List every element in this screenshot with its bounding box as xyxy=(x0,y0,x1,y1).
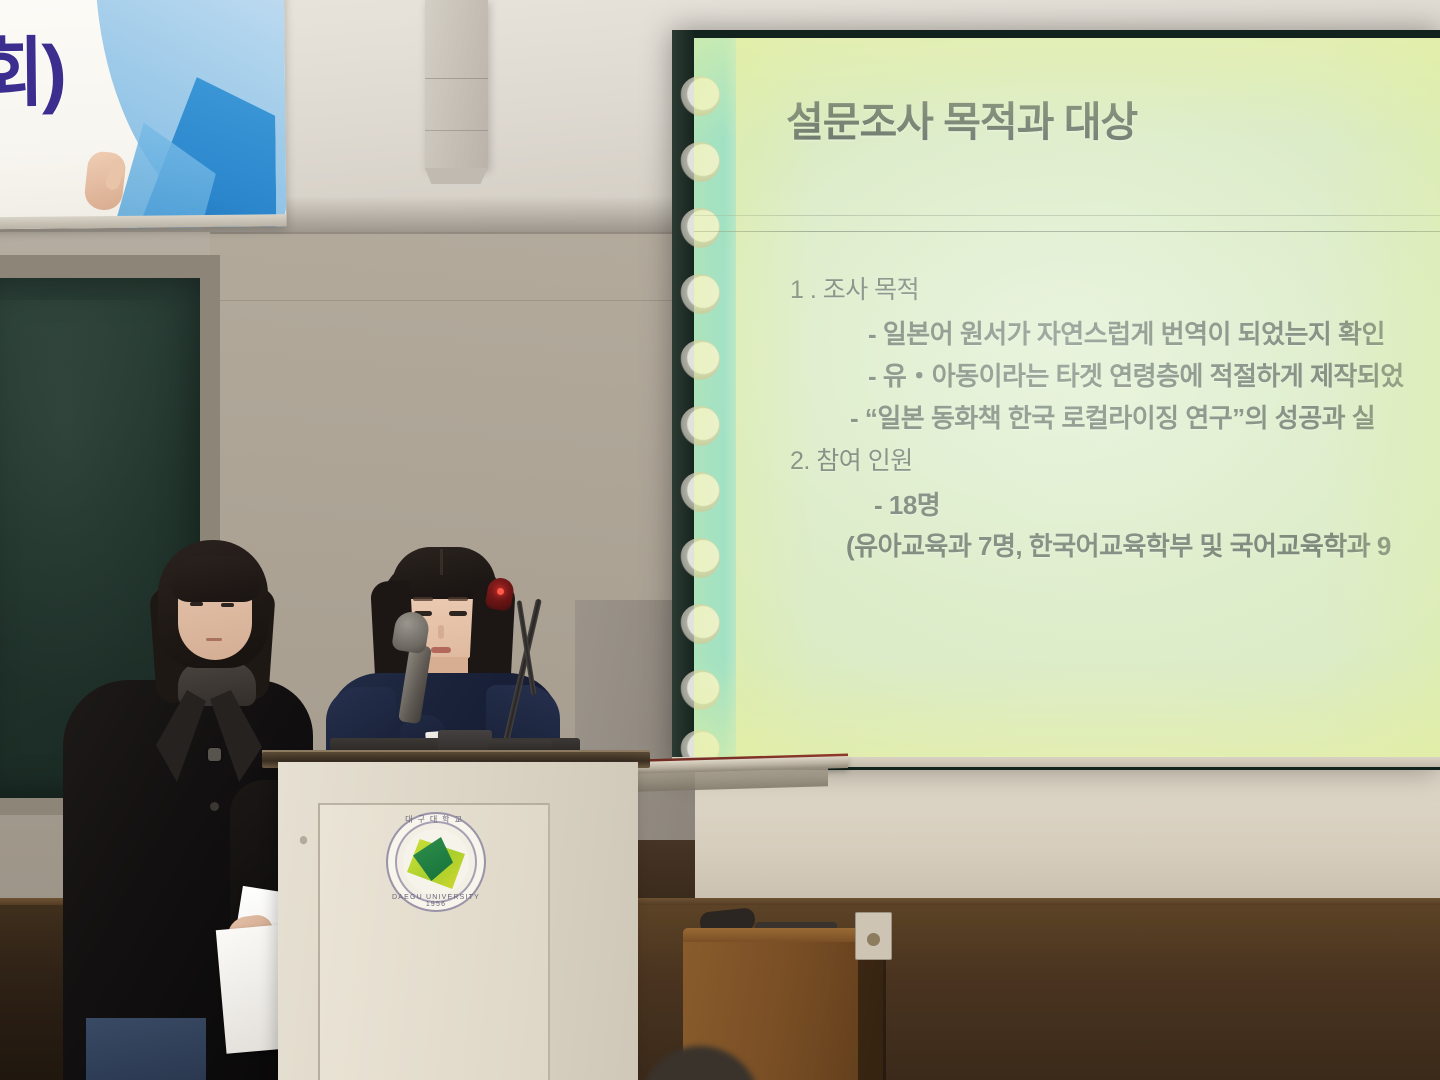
slide-title: 설문조사 목적과 대상 xyxy=(786,88,1137,148)
slide-line-3: - 유・아동이라는 타겟 연령층에 적절하게 제작되었 xyxy=(868,356,1440,393)
slide-divider-lower xyxy=(694,231,1440,232)
slide-line-2: - 일본어 원서가 자연스럽게 번역이 되었는지 확인 xyxy=(868,314,1440,351)
slide-line-6: - 18명 xyxy=(874,485,1440,522)
slide-line-1: 1 . 조사 목적 xyxy=(790,270,1440,306)
slide-line-5: 2. 참여 인원 xyxy=(790,441,1440,477)
slide-divider-upper xyxy=(694,215,1440,216)
podium-knob xyxy=(300,836,307,843)
ceiling-duct-seam-lower xyxy=(425,130,488,131)
wall-outlet xyxy=(855,912,892,960)
emblem-inner-disc xyxy=(403,829,469,895)
slide-body: 1 . 조사 목적 - 일본어 원서가 자연스럽게 번역이 되었는지 확인 - … xyxy=(790,270,1440,563)
presenter-podium-hair-part xyxy=(440,549,443,575)
slide-line-4: - “일본 동화책 한국 로컬라이징 연구”의 성공과 실 xyxy=(850,398,1440,435)
presenter-left-mouth xyxy=(206,638,222,641)
event-banner: University Innovation 대학혁신지원사업 표회) 437 xyxy=(0,0,286,230)
banner-event-title: 표회) xyxy=(0,11,64,123)
presenter-podium-eye-right xyxy=(449,611,467,616)
presenter-podium-nose xyxy=(438,625,444,639)
presenter-podium-mouth xyxy=(431,647,451,653)
projection-screen-left-edge xyxy=(672,30,694,770)
presenter-left-eye-right xyxy=(221,603,234,607)
cabinet-side-shadow xyxy=(858,955,886,1080)
presenter-left-legs xyxy=(86,1018,206,1080)
slide-accent-strip xyxy=(694,38,736,760)
presenter-left-coat-buckle xyxy=(208,748,221,761)
wall-panel-seam xyxy=(210,300,680,301)
university-emblem: 대구대학교 DAEGU UNIVERSITY 1956 xyxy=(386,812,486,912)
gooseneck-mic-indicator-light xyxy=(497,588,504,595)
presenter-podium-brow-right xyxy=(448,597,468,601)
ceiling-duct-seam xyxy=(425,78,488,79)
ceiling-duct xyxy=(425,0,488,170)
emblem-text-korean: 대구대학교 xyxy=(386,814,486,825)
presenter-left-coat-button xyxy=(210,802,219,811)
lecture-hall-photo: University Innovation 대학혁신지원사업 표회) 437 설… xyxy=(0,0,1440,1080)
presenter-podium-brow-left xyxy=(413,597,433,601)
slide-line-7: (유아교육과 7명, 한국어교육학부 및 국어교육학과 9 xyxy=(846,526,1440,563)
wall-panel-top-edge xyxy=(210,232,680,234)
emblem-text-english: DAEGU UNIVERSITY 1956 xyxy=(386,894,486,908)
presenter-left-bangs xyxy=(171,556,261,602)
cabinet-top-surface xyxy=(683,928,883,942)
presenter-left-eye-left xyxy=(190,602,203,606)
